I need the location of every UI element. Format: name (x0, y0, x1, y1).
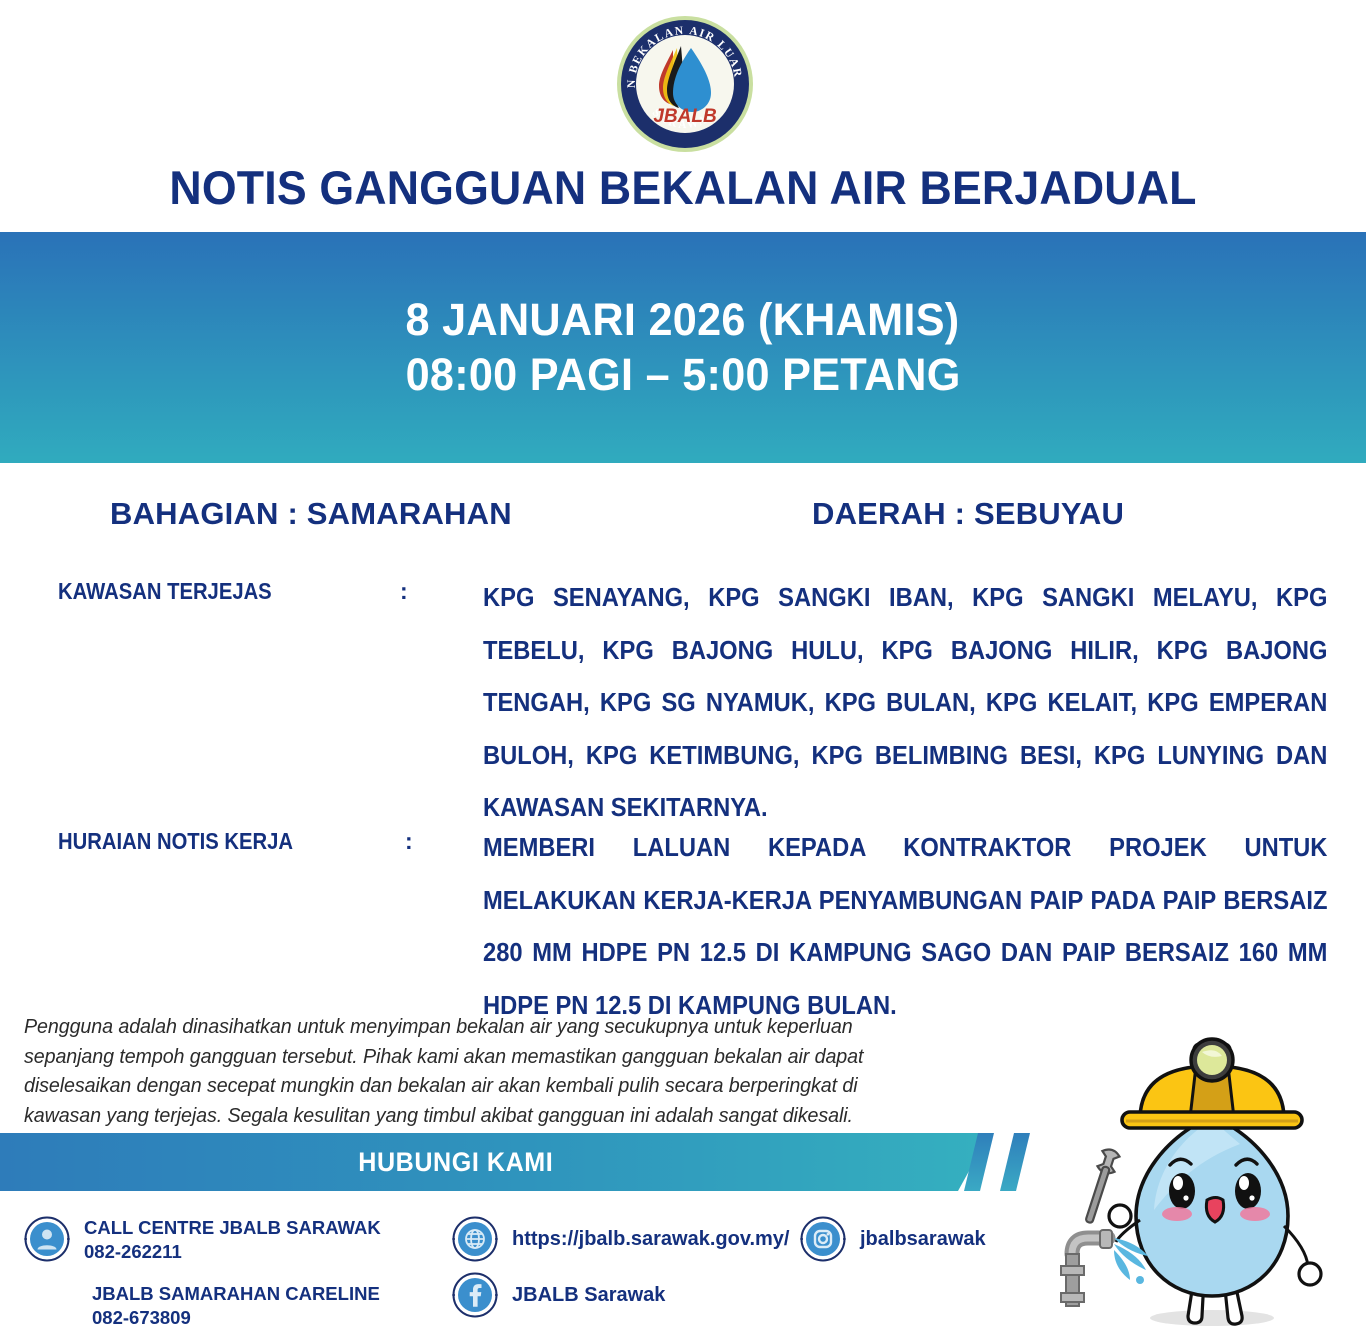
call-centre-number: 082-262211 (84, 1240, 381, 1264)
facebook-icon (452, 1272, 498, 1318)
instagram-icon (800, 1216, 846, 1262)
affected-area-value: KPG SENAYANG, KPG SANGKI IBAN, KPG SANGK… (483, 572, 1327, 835)
instagram-handle[interactable]: jbalbsarawak (860, 1228, 986, 1251)
advisory-note: Pengguna adalah dinasihatkan untuk menyi… (24, 1012, 926, 1131)
careline-number: 082-673809 (92, 1306, 380, 1330)
water-droplet-worker-mascot (1044, 988, 1364, 1340)
daerah-label: DAERAH : SEBUYAU (812, 496, 1124, 532)
page-title: NOTIS GANGGUAN BEKALAN AIR BERJADUAL (34, 160, 1332, 215)
work-description-label: HURAIAN NOTIS KERJA (58, 828, 293, 855)
bahagian-label: BAHAGIAN : SAMARAHAN (110, 496, 512, 532)
contact-banner-label: HUBUNGI KAMI (358, 1147, 553, 1178)
affected-area-label: KAWASAN TERJEJAS (58, 578, 272, 605)
facebook-handle[interactable]: JBALB Sarawak (512, 1284, 665, 1307)
jbalb-logo-icon: JABATAN BEKALAN AIR LUAR BANDAR SARAWAK … (615, 14, 755, 154)
work-description-colon: : (405, 828, 413, 855)
contact-facebook[interactable]: JBALB Sarawak (452, 1272, 665, 1318)
careline-text: JBALB SAMARAHAN CARELINE 082-673809 (92, 1282, 380, 1329)
contact-call-centre: CALL CENTRE JBALB SARAWAK 082-262211 (24, 1216, 381, 1263)
notice-poster: JABATAN BEKALAN AIR LUAR BANDAR SARAWAK … (0, 0, 1366, 1340)
careline-name: JBALB SAMARAHAN CARELINE (92, 1282, 380, 1306)
time-line: 08:00 PAGI – 5:00 PETANG (405, 348, 960, 403)
svg-text:JBALB: JBALB (653, 106, 717, 127)
mascot-illustration (1044, 988, 1364, 1340)
contact-website[interactable]: https://jbalb.sarawak.gov.my/ (452, 1216, 789, 1262)
call-centre-text: CALL CENTRE JBALB SARAWAK 082-262211 (84, 1216, 381, 1263)
person-icon (24, 1216, 70, 1262)
division-row: BAHAGIAN : SAMARAHAN DAERAH : SEBUYAU (0, 496, 1366, 536)
website-url[interactable]: https://jbalb.sarawak.gov.my/ (512, 1228, 789, 1251)
contact-banner: HUBUNGI KAMI (0, 1133, 990, 1191)
contact-instagram[interactable]: jbalbsarawak (800, 1216, 986, 1262)
globe-icon (452, 1216, 498, 1262)
affected-area-colon: : (400, 578, 408, 605)
jbalb-logo: JABATAN BEKALAN AIR LUAR BANDAR SARAWAK … (615, 14, 755, 154)
date-banner: 8 JANUARI 2026 (KHAMIS) 08:00 PAGI – 5:0… (0, 232, 1366, 463)
date-line: 8 JANUARI 2026 (KHAMIS) (406, 293, 960, 348)
decorative-slash-2 (1000, 1133, 1030, 1191)
call-centre-name: CALL CENTRE JBALB SARAWAK (84, 1216, 381, 1240)
contact-careline: JBALB SAMARAHAN CARELINE 082-673809 (92, 1282, 380, 1329)
